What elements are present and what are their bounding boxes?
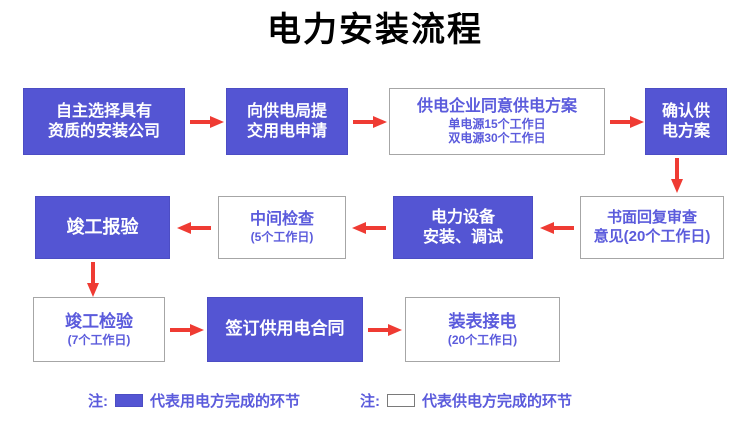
node-line-1: 自主选择具有 bbox=[56, 102, 152, 122]
node-subline-1: (20个工作日) bbox=[448, 333, 517, 348]
legend-supplier: 注: 代表供电方完成的环节 bbox=[360, 390, 572, 411]
legend-swatch-filled bbox=[115, 394, 143, 407]
node-completion-inspection[interactable]: 竣工检验 (7个工作日) bbox=[33, 297, 165, 362]
legend-prefix: 注: bbox=[88, 390, 108, 411]
node-line-1: 签订供用电合同 bbox=[226, 319, 345, 340]
node-utility-approves-plan[interactable]: 供电企业同意供电方案 单电源15个工作日 双电源30个工作日 bbox=[389, 88, 605, 155]
arrow-left-step5-to-step6 bbox=[538, 218, 576, 238]
node-completion-report[interactable]: 竣工报验 bbox=[35, 196, 170, 259]
legend-prefix: 注: bbox=[360, 390, 380, 411]
legend-swatch-hollow bbox=[387, 394, 415, 407]
arrow-left-step6-to-step7 bbox=[350, 218, 388, 238]
page-title: 电力安装流程 bbox=[0, 8, 750, 52]
node-subline-1: (5个工作日) bbox=[251, 230, 314, 245]
node-line-1: 向供电局提 bbox=[247, 102, 327, 122]
node-line-2: 电方案 bbox=[662, 122, 710, 142]
legend-label: 代表供电方完成的环节 bbox=[422, 390, 572, 411]
arrow-down-step8-to-step9 bbox=[83, 261, 103, 299]
arrow-right-step1-to-step2 bbox=[188, 112, 226, 132]
node-line-2: 资质的安装公司 bbox=[48, 122, 160, 142]
node-line-2: 意见(20个工作日) bbox=[594, 228, 711, 246]
node-line-1: 中间检查 bbox=[250, 210, 314, 230]
node-line-1: 供电企业同意供电方案 bbox=[417, 97, 577, 117]
node-line-1: 装表接电 bbox=[449, 312, 517, 333]
node-confirm-plan[interactable]: 确认供 电方案 bbox=[645, 88, 727, 155]
node-equipment-install-debug[interactable]: 电力设备 安装、调试 bbox=[393, 196, 533, 259]
node-line-1: 确认供 bbox=[662, 102, 710, 122]
flowchart-canvas: 电力安装流程 自主选择具有 资质的安装公司 向供电局提 交用电申请 供电企业同意… bbox=[0, 0, 750, 422]
arrow-left-step7-to-step8 bbox=[175, 218, 213, 238]
arrow-right-step10-to-step11 bbox=[366, 320, 404, 340]
node-sign-contract[interactable]: 签订供用电合同 bbox=[207, 297, 363, 362]
arrow-down-step4-to-step5 bbox=[667, 157, 687, 195]
node-line-1: 竣工检验 bbox=[65, 312, 133, 333]
arrow-right-step3-to-step4 bbox=[608, 112, 646, 132]
node-subline-1: 单电源15个工作日 bbox=[448, 117, 545, 132]
node-interim-inspection[interactable]: 中间检查 (5个工作日) bbox=[218, 196, 346, 259]
legend-label: 代表用电方完成的环节 bbox=[150, 390, 300, 411]
node-line-2: 交用电申请 bbox=[247, 122, 327, 142]
node-select-qualified-company[interactable]: 自主选择具有 资质的安装公司 bbox=[23, 88, 185, 155]
node-submit-application[interactable]: 向供电局提 交用电申请 bbox=[226, 88, 348, 155]
node-line-1: 书面回复审查 bbox=[607, 209, 697, 227]
node-subline-1: (7个工作日) bbox=[68, 333, 131, 348]
node-subline-2: 双电源30个工作日 bbox=[448, 131, 545, 146]
arrow-right-step2-to-step3 bbox=[351, 112, 389, 132]
arrow-right-step9-to-step10 bbox=[168, 320, 206, 340]
node-meter-connect[interactable]: 装表接电 (20个工作日) bbox=[405, 297, 560, 362]
legend-consumer: 注: 代表用电方完成的环节 bbox=[88, 390, 300, 411]
node-line-2: 安装、调试 bbox=[423, 228, 503, 248]
node-line-1: 竣工报验 bbox=[67, 217, 139, 239]
node-written-review-reply[interactable]: 书面回复审查 意见(20个工作日) bbox=[580, 196, 724, 259]
node-line-1: 电力设备 bbox=[431, 208, 495, 228]
